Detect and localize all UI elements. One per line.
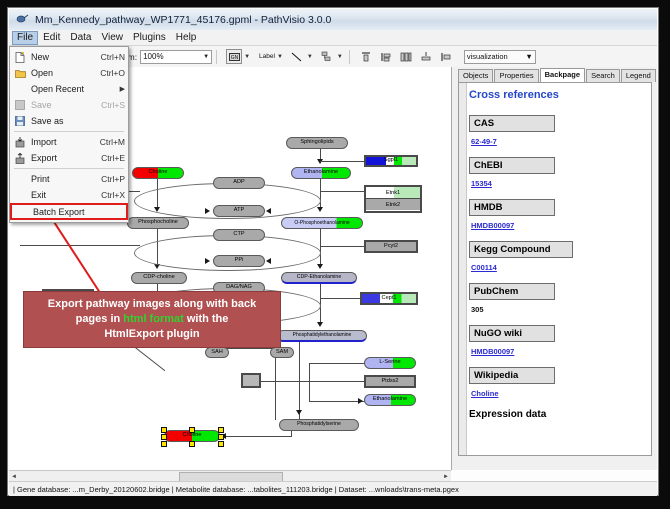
status-bar: | Gene database: ...m_Derby_20120602.bri… [9, 481, 657, 496]
menu-item-exit[interactable]: Exit Ctrl+X [10, 187, 128, 203]
menu-item-accel: Ctrl+M [100, 137, 125, 147]
align-top-icon[interactable] [359, 49, 374, 64]
node-label: Ptdss2 [381, 379, 398, 385]
panel-tabstrip: Objects Properties Backpage Search Legen… [452, 67, 657, 82]
menu-item-export[interactable]: Export Ctrl+E [10, 150, 128, 166]
scroll-track[interactable] [19, 472, 441, 481]
selection-handle-nw[interactable] [161, 427, 167, 433]
edge-etnk [320, 191, 364, 192]
arrow-right-2 [205, 258, 210, 264]
tab-objects[interactable]: Objects [458, 69, 493, 82]
node-atp[interactable]: ATP [213, 205, 265, 217]
node-label: PPi [235, 258, 244, 264]
edge-left-2 [20, 245, 140, 246]
node-o-phosphoethanolamine[interactable]: O-Phosphoethanolamine [281, 217, 363, 229]
label-button[interactable]: Label [259, 53, 275, 60]
xref-header-chebi: ChEBI [469, 157, 555, 174]
selection-handle-n[interactable] [189, 427, 195, 433]
arrow-right-4 [358, 398, 363, 404]
line-icon[interactable] [290, 49, 305, 64]
xref-value-chebi[interactable]: 15354 [469, 179, 645, 188]
gene-cept1[interactable]: Cept1 [360, 292, 418, 305]
annotation-callout: Export pathway images along with back pa… [23, 291, 281, 348]
gene-label: Etnk2 [386, 202, 400, 208]
node-cdp-ethanolamine[interactable]: CDP-Ethanolamine [281, 272, 357, 284]
edge-sgpl1 [320, 161, 364, 162]
toolbar-separator [216, 50, 217, 64]
interaction-icon[interactable] [320, 49, 335, 64]
chevron-down-icon-2: ▼ [525, 52, 532, 61]
callout-line-3: HtmlExport plugin [104, 327, 199, 342]
menu-item-label: Open Recent [31, 84, 120, 94]
xref-value-hmdb[interactable]: HMDB00097 [469, 221, 645, 230]
arrow-left-1 [266, 208, 271, 214]
xref-header-nugo: NuGO wiki [469, 325, 555, 342]
edge-ethanolamine-out [309, 401, 365, 402]
blank-icon-4 [15, 205, 29, 218]
xref-header-cas: CAS [469, 115, 555, 132]
node-label: Phosphatidylserine [297, 422, 341, 427]
edge-ethanolamine-ophospho [320, 179, 321, 210]
datanode-dropdown-icon[interactable]: ▼ [244, 54, 250, 60]
chevron-down-icon: ▼ [203, 54, 209, 60]
arrow-down-5 [317, 207, 323, 212]
edge-choline-riser [291, 431, 292, 437]
callout-highlight: html format [123, 313, 184, 325]
menu-item-label: Import [31, 137, 94, 147]
node-label: Phosphocholine [138, 220, 178, 226]
status-text: | Gene database: ...m_Derby_20120602.bri… [13, 485, 459, 494]
visualization-combo[interactable]: visualization ▼ [464, 50, 536, 64]
node-ctp[interactable]: CTP [213, 229, 265, 241]
edge-pcyt2 [320, 246, 364, 247]
menu-item-print[interactable]: Print Ctrl+P [10, 171, 128, 187]
selection-handle-w[interactable] [161, 434, 167, 440]
blank-icon [13, 83, 27, 96]
menu-separator-1 [14, 131, 124, 132]
node-ptdss2[interactable]: Ptdss2 [364, 375, 416, 388]
xref-value-pubchem: 305 [469, 305, 645, 314]
xref-value-nugo[interactable]: HMDB00097 [469, 347, 645, 356]
edge-lserine [309, 363, 365, 364]
node-ethanolamine-bottom[interactable]: Ethanolamine [364, 394, 416, 406]
distribute-icon[interactable] [419, 49, 434, 64]
gene-etnk[interactable]: Etnk1 Etnk2 [364, 185, 422, 213]
node-phosphatidylethanolamine[interactable]: Phosphatidylethanolamine [277, 330, 367, 342]
menu-item-label: Save [31, 100, 95, 110]
interaction-dropdown-icon[interactable]: ▼ [337, 54, 343, 60]
save-icon [13, 99, 27, 112]
node-label: L-Serine [379, 360, 400, 366]
blank-icon-3 [13, 189, 27, 202]
menu-plugins[interactable]: Plugins [128, 31, 171, 45]
pathvisio-icon [16, 13, 29, 26]
xref-header-wikipedia: Wikipedia [469, 367, 555, 384]
menu-bar: File Edit Data View Plugins Help [9, 30, 657, 46]
edge-cept1 [320, 298, 360, 299]
node-label: DAG/NAG [226, 285, 252, 291]
scroll-left-icon[interactable]: ◄ [9, 472, 19, 481]
node-label: Choline [149, 170, 168, 176]
process-node[interactable] [241, 373, 261, 388]
gene-label: Cept1 [382, 296, 397, 302]
menu-item-label: Exit [31, 190, 95, 200]
node-ppi[interactable]: PPi [213, 255, 265, 267]
menu-item-open[interactable]: Open Ctrl+O [10, 65, 128, 81]
xref-value-wikipedia[interactable]: Choline [469, 389, 645, 398]
arrow-down-6 [317, 264, 323, 269]
node-phosphocholine[interactable]: Phosphocholine [127, 217, 189, 229]
panel-scrollbar[interactable] [459, 83, 467, 455]
callout-line2-pre: pages in [76, 313, 124, 325]
node-label: Sphingolipids [300, 140, 333, 146]
export-icon [13, 152, 27, 165]
gene-label: Etnk1 [386, 190, 400, 196]
menu-item-accel: Ctrl+E [101, 153, 125, 163]
file-menu-dropdown[interactable]: New Ctrl+N Open Ctrl+O Open Recent ▶ Sav… [9, 46, 129, 223]
node-sam[interactable]: SAM [270, 347, 294, 358]
side-panel: Objects Properties Backpage Search Legen… [452, 67, 657, 470]
node-label: O-Phosphoethanolamine [294, 221, 349, 226]
node-label: SAH [211, 350, 223, 356]
menu-item-label: Print [31, 174, 95, 184]
arrow-down-7 [317, 322, 323, 327]
node-phosphatidylserine[interactable]: Phosphatidylserine [279, 419, 359, 431]
node-sphingolipids[interactable]: Sphingolipids [286, 137, 348, 149]
node-label: Ethanolamine [373, 397, 407, 403]
menu-item-save-as[interactable]: Save as [10, 113, 128, 129]
import-icon [13, 136, 27, 149]
save-as-icon [13, 115, 27, 128]
edge-ptdss2 [259, 381, 365, 382]
node-label: CDP-Ethanolamine [297, 275, 341, 280]
menu-item-label: Open [31, 68, 94, 78]
xref-value-cas[interactable]: 62-49-7 [469, 137, 645, 146]
gene-row-etnk2: Etnk2 [366, 199, 420, 210]
menu-item-open-recent[interactable]: Open Recent ▶ [10, 81, 128, 97]
menu-edit[interactable]: Edit [38, 31, 65, 45]
menu-item-label: Batch Export [33, 207, 123, 217]
callout-line-2: pages in html format with the [76, 312, 229, 327]
scroll-right-icon[interactable]: ► [441, 472, 451, 481]
node-ethanolamine-top[interactable]: Ethanolamine [291, 167, 351, 179]
xref-header-hmdb: HMDB [469, 199, 555, 216]
node-l-serine[interactable]: L-Serine [364, 357, 416, 369]
menu-item-save: Save Ctrl+S [10, 97, 128, 113]
menu-item-accel: Ctrl+P [101, 174, 125, 184]
arrow-left-2 [266, 258, 271, 264]
tab-search[interactable]: Search [586, 69, 620, 82]
node-label: Phosphatidylethanolamine [293, 333, 352, 338]
title-bar: Mm_Kennedy_pathway_WP1771_45176.gpml - P… [9, 9, 657, 31]
backpage-content: Cross references CAS 62-49-7 ChEBI 15354… [458, 82, 652, 456]
node-label: Ethanolamine [304, 170, 338, 176]
node-label: SAM [276, 350, 288, 356]
selection-handle-se[interactable] [218, 441, 224, 447]
edge-ophospho-cdpethanolamine [320, 229, 321, 267]
tab-legend[interactable]: Legend [621, 69, 656, 82]
selection-handle-ne[interactable] [218, 427, 224, 433]
node-label: Choline [183, 433, 202, 439]
gene-sgpl1[interactable]: Sgpl1 [364, 155, 418, 167]
menu-view[interactable]: View [96, 31, 128, 45]
xref-header-pubchem: PubChem [469, 283, 555, 300]
gene-row-etnk1: Etnk1 [366, 187, 420, 199]
menu-item-batch-export[interactable]: Batch Export [10, 203, 128, 220]
node-label: CTP [233, 232, 244, 238]
node-adp[interactable]: ADP [213, 177, 265, 189]
application-window: Mm_Kennedy_pathway_WP1771_45176.gpml - P… [0, 0, 670, 509]
menu-item-new[interactable]: New Ctrl+N [10, 49, 128, 65]
arrow-right-1 [205, 208, 210, 214]
zoom-value: 100% [143, 52, 163, 61]
callout-line2-post: with the [184, 313, 229, 325]
tab-backpage[interactable]: Backpage [540, 68, 585, 82]
gene-label: Sgpl1 [384, 158, 398, 164]
zoom-combo[interactable]: 100% ▼ [140, 50, 212, 64]
align-left-icon[interactable] [379, 49, 394, 64]
new-document-icon [13, 51, 27, 64]
open-folder-icon [13, 67, 27, 80]
arrow-down-8 [296, 410, 302, 415]
menu-item-accel: Ctrl+N [101, 52, 125, 62]
gene-label: Pcyt2 [384, 244, 398, 250]
menu-data[interactable]: Data [65, 31, 96, 45]
window-title: Mm_Kennedy_pathway_WP1771_45176.gpml - P… [35, 14, 331, 26]
node-label: CDP-choline [143, 275, 174, 281]
node-label: ADP [233, 180, 245, 186]
label-dropdown-icon[interactable]: ▼ [277, 54, 283, 60]
menu-item-label: Export [31, 153, 95, 163]
menu-separator-2 [14, 168, 124, 169]
chevron-right-icon: ▶ [120, 85, 125, 93]
edge-choline-return [221, 436, 291, 437]
node-sah[interactable]: SAH [205, 347, 229, 358]
callout-line-1: Export pathway images along with back [48, 297, 256, 312]
tab-properties[interactable]: Properties [494, 69, 538, 82]
edge-serine-branch [309, 363, 310, 401]
menu-item-label: New [31, 52, 95, 62]
node-cdp-choline[interactable]: CDP-choline [131, 272, 187, 284]
toolbar-separator-2 [349, 50, 350, 64]
xref-value-kegg[interactable]: C00114 [469, 263, 645, 272]
datanode-icon[interactable]: GN [226, 49, 242, 64]
menu-item-label: Save as [31, 116, 119, 126]
expression-data-heading: Expression data [469, 409, 645, 420]
svg-text:GN: GN [230, 55, 238, 61]
selection-handle-sw[interactable] [161, 441, 167, 447]
gene-pcyt2[interactable]: Pcyt2 [364, 240, 418, 253]
node-choline-top[interactable]: Choline [132, 167, 184, 179]
line-dropdown-icon[interactable]: ▼ [307, 54, 313, 60]
menu-item-accel: Ctrl+O [100, 68, 125, 78]
menu-item-accel: Ctrl+S [101, 100, 125, 110]
selection-handle-e[interactable] [218, 434, 224, 440]
menu-file[interactable]: File [12, 31, 38, 45]
cross-references-heading: Cross references [469, 89, 645, 101]
xref-header-kegg: Kegg Compound [469, 241, 573, 258]
menu-item-import[interactable]: Import Ctrl+M [10, 134, 128, 150]
node-label: ATP [234, 208, 244, 214]
backpage-inner: Cross references CAS 62-49-7 ChEBI 15354… [469, 89, 645, 420]
visualization-value: visualization [467, 52, 508, 61]
common-width-icon[interactable] [439, 49, 454, 64]
stack-icon[interactable] [399, 49, 414, 64]
selection-handle-s[interactable] [189, 441, 195, 447]
menu-help[interactable]: Help [171, 31, 202, 45]
blank-icon-2 [13, 173, 27, 186]
menu-item-accel: Ctrl+X [101, 190, 125, 200]
